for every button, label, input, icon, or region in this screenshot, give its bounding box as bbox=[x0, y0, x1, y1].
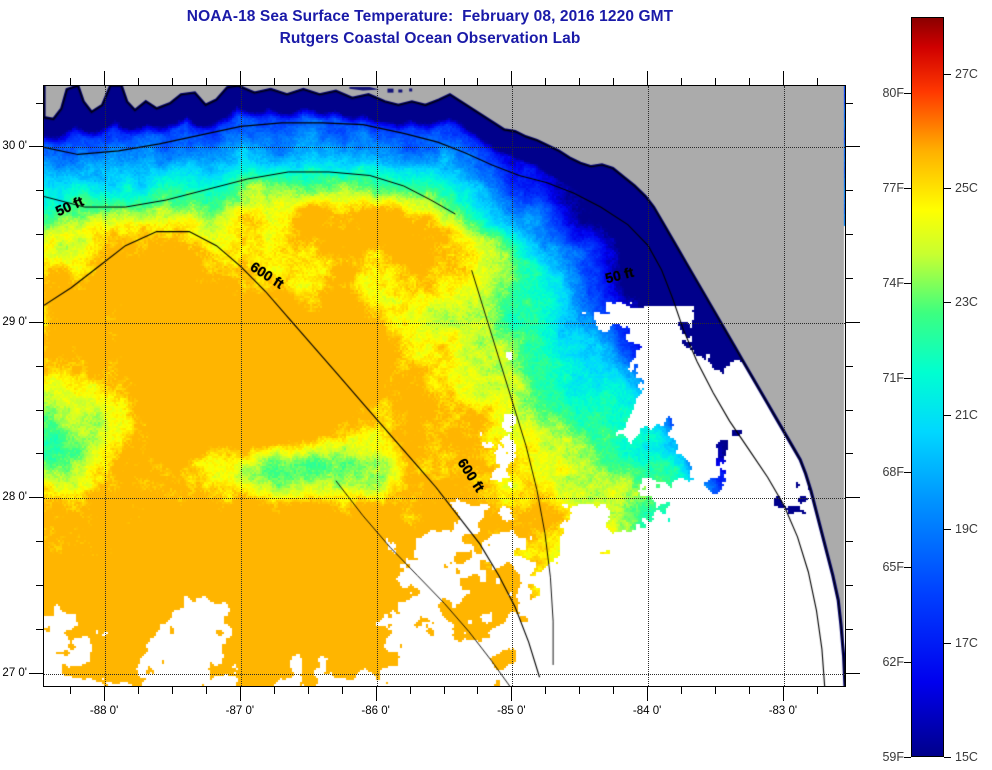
lat-tick-right bbox=[846, 146, 860, 147]
longitude-label: -83 0' bbox=[769, 705, 797, 717]
lat-tick-left bbox=[29, 673, 43, 674]
lon-tick-top bbox=[240, 71, 241, 85]
colorbar-label-celsius: 21C bbox=[955, 408, 978, 422]
lon-tick-bottom bbox=[749, 687, 750, 694]
colorbar-label-fahrenheit: 65F bbox=[866, 560, 904, 574]
lat-tick-left bbox=[36, 629, 43, 630]
lon-tick-top bbox=[749, 78, 750, 85]
lat-tick-right bbox=[846, 541, 853, 542]
lon-tick-bottom bbox=[410, 687, 411, 694]
lon-tick-bottom bbox=[647, 687, 648, 701]
lat-tick-right bbox=[846, 585, 853, 586]
colorbar-tick-fahrenheit bbox=[904, 283, 911, 284]
latitude-label: 29 0' bbox=[0, 316, 27, 328]
lat-tick-left bbox=[36, 103, 43, 104]
lon-tick-top bbox=[444, 78, 445, 85]
lon-tick-top bbox=[206, 78, 207, 85]
lat-tick-right bbox=[846, 234, 853, 235]
colorbar-tick-celsius bbox=[944, 74, 951, 75]
lon-tick-top bbox=[70, 78, 71, 85]
longitude-label: -85 0' bbox=[497, 705, 525, 717]
lon-tick-top bbox=[783, 71, 784, 85]
colorbar-tick-celsius bbox=[944, 415, 951, 416]
lon-tick-top bbox=[817, 78, 818, 85]
lon-tick-top bbox=[681, 78, 682, 85]
lon-tick-bottom bbox=[172, 687, 173, 694]
lat-tick-left bbox=[36, 453, 43, 454]
lon-tick-top bbox=[410, 78, 411, 85]
longitude-label: -84 0' bbox=[633, 705, 661, 717]
lat-tick-left bbox=[36, 541, 43, 542]
lon-tick-bottom bbox=[477, 687, 478, 694]
temperature-colorbar bbox=[911, 17, 944, 757]
colorbar-label-celsius: 27C bbox=[955, 67, 978, 81]
lon-tick-bottom bbox=[274, 687, 275, 694]
lat-tick-left bbox=[29, 497, 43, 498]
lon-tick-bottom bbox=[613, 687, 614, 694]
longitude-label: -88 0' bbox=[90, 705, 118, 717]
longitude-label: -87 0' bbox=[226, 705, 254, 717]
colorbar-tick-fahrenheit bbox=[904, 188, 911, 189]
lon-tick-bottom bbox=[681, 687, 682, 694]
lon-tick-bottom bbox=[545, 687, 546, 694]
lon-tick-bottom bbox=[206, 687, 207, 694]
lat-tick-left bbox=[36, 190, 43, 191]
lat-tick-left bbox=[36, 410, 43, 411]
lat-tick-right bbox=[846, 629, 853, 630]
lon-tick-bottom bbox=[817, 687, 818, 694]
lat-tick-right bbox=[846, 673, 860, 674]
lon-tick-top bbox=[376, 71, 377, 85]
colorbar-label-celsius: 25C bbox=[955, 181, 978, 195]
lat-tick-right bbox=[846, 410, 853, 411]
lon-tick-bottom bbox=[308, 687, 309, 694]
colorbar-tick-fahrenheit bbox=[904, 662, 911, 663]
page-subtitle: Rutgers Coastal Ocean Observation Lab bbox=[0, 28, 860, 50]
colorbar-tick-celsius bbox=[944, 757, 951, 758]
lon-tick-top bbox=[342, 78, 343, 85]
lon-tick-bottom bbox=[70, 687, 71, 694]
colorbar-label-celsius: 15C bbox=[955, 750, 978, 764]
lat-tick-right bbox=[846, 190, 853, 191]
lon-tick-bottom bbox=[138, 687, 139, 694]
lon-tick-bottom bbox=[342, 687, 343, 694]
page-title: NOAA-18 Sea Surface Temperature: Februar… bbox=[0, 6, 860, 28]
lon-tick-top bbox=[579, 78, 580, 85]
lon-tick-bottom bbox=[579, 687, 580, 694]
colorbar-tick-fahrenheit bbox=[904, 93, 911, 94]
lat-tick-right bbox=[846, 278, 853, 279]
lon-tick-top bbox=[172, 78, 173, 85]
latitude-label: 30 0' bbox=[0, 140, 27, 152]
lon-tick-top bbox=[613, 78, 614, 85]
lon-tick-bottom bbox=[444, 687, 445, 694]
colorbar-label-fahrenheit: 68F bbox=[866, 465, 904, 479]
lat-tick-left bbox=[36, 585, 43, 586]
lat-tick-left bbox=[36, 366, 43, 367]
colorbar-label-fahrenheit: 74F bbox=[866, 276, 904, 290]
sst-map-plot: 50 ft600 ft600 ft50 ft bbox=[43, 85, 846, 687]
chart-title-block: NOAA-18 Sea Surface Temperature: Februar… bbox=[0, 6, 860, 50]
colorbar-tick-celsius bbox=[944, 643, 951, 644]
lon-tick-top bbox=[104, 71, 105, 85]
lat-tick-right bbox=[846, 103, 853, 104]
colorbar-tick-celsius bbox=[944, 302, 951, 303]
colorbar-tick-fahrenheit bbox=[904, 378, 911, 379]
colorbar-label-fahrenheit: 62F bbox=[866, 655, 904, 669]
sst-raster-image bbox=[44, 86, 845, 686]
lon-tick-bottom bbox=[783, 687, 784, 701]
lon-tick-top bbox=[308, 78, 309, 85]
colorbar-label-fahrenheit: 59F bbox=[866, 750, 904, 764]
longitude-label: -86 0' bbox=[361, 705, 389, 717]
lon-tick-bottom bbox=[240, 687, 241, 701]
lat-tick-left bbox=[36, 278, 43, 279]
lon-tick-top bbox=[545, 78, 546, 85]
colorbar-tick-fahrenheit bbox=[904, 567, 911, 568]
colorbar-label-celsius: 23C bbox=[955, 295, 978, 309]
colorbar-tick-fahrenheit bbox=[904, 757, 911, 758]
lat-tick-right bbox=[846, 453, 853, 454]
colorbar-label-fahrenheit: 77F bbox=[866, 181, 904, 195]
lon-tick-top bbox=[274, 78, 275, 85]
colorbar-label-celsius: 17C bbox=[955, 636, 978, 650]
lat-tick-right bbox=[846, 322, 860, 323]
lon-tick-top bbox=[647, 71, 648, 85]
colorbar-label-celsius: 19C bbox=[955, 522, 978, 536]
lon-tick-bottom bbox=[511, 687, 512, 701]
lon-tick-bottom bbox=[376, 687, 377, 701]
lat-tick-right bbox=[846, 366, 853, 367]
colorbar-label-fahrenheit: 71F bbox=[866, 371, 904, 385]
lon-tick-bottom bbox=[104, 687, 105, 701]
colorbar-gradient bbox=[912, 18, 943, 756]
colorbar-tick-celsius bbox=[944, 188, 951, 189]
lat-tick-right bbox=[846, 497, 860, 498]
lat-tick-left bbox=[29, 322, 43, 323]
latitude-label: 27 0' bbox=[0, 667, 27, 679]
lat-tick-left bbox=[29, 146, 43, 147]
colorbar-tick-fahrenheit bbox=[904, 472, 911, 473]
lat-tick-left bbox=[36, 234, 43, 235]
lon-tick-top bbox=[511, 71, 512, 85]
lon-tick-top bbox=[715, 78, 716, 85]
latitude-label: 28 0' bbox=[0, 491, 27, 503]
lon-tick-top bbox=[138, 78, 139, 85]
lon-tick-bottom bbox=[715, 687, 716, 694]
colorbar-label-fahrenheit: 80F bbox=[866, 86, 904, 100]
lon-tick-top bbox=[477, 78, 478, 85]
colorbar-tick-celsius bbox=[944, 529, 951, 530]
